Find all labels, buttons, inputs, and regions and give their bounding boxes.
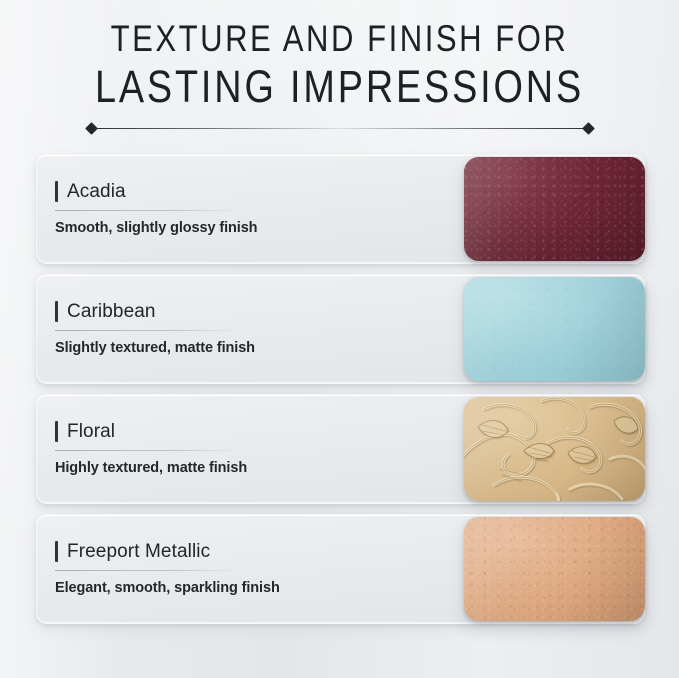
- color-swatch-floral[interactable]: [464, 397, 645, 501]
- swatch-description: Smooth, slightly glossy finish: [55, 220, 355, 236]
- swatch-name: Floral: [67, 421, 115, 443]
- divider-rule: [93, 128, 587, 129]
- accent-bar-icon: [55, 421, 58, 442]
- swatch-description: Slightly textured, matte finish: [55, 340, 355, 356]
- swatch-name-rule: [55, 570, 233, 571]
- list-item[interactable]: Acadia Smooth, slightly glossy finish: [0, 154, 679, 264]
- color-swatch-acadia[interactable]: [464, 157, 645, 261]
- title-divider: [87, 122, 593, 136]
- swatch-description: Elegant, smooth, sparkling finish: [55, 580, 355, 596]
- texture-finish-poster: TEXTURE AND FINISH FOR LASTING IMPRESSIO…: [0, 0, 679, 678]
- swatch-name: Acadia: [67, 181, 126, 203]
- gloss-sheen: [464, 517, 645, 621]
- page-title-line-1: TEXTURE AND FINISH FOR: [54, 20, 624, 58]
- leather-grain-texture: [464, 517, 645, 621]
- accent-bar-icon: [55, 301, 58, 322]
- poster-header: TEXTURE AND FINISH FOR LASTING IMPRESSIO…: [0, 0, 679, 136]
- swatch-card-body: Caribbean Slightly textured, matte finis…: [55, 301, 355, 356]
- accent-bar-icon: [55, 541, 58, 562]
- diamond-right-icon: [582, 122, 595, 135]
- swatch-card-body: Floral Highly textured, matte finish: [55, 421, 355, 476]
- swatch-description: Highly textured, matte finish: [55, 460, 355, 476]
- swatch-card-body: Acadia Smooth, slightly glossy finish: [55, 181, 355, 236]
- swatch-list: Acadia Smooth, slightly glossy finish Ca…: [0, 154, 679, 624]
- swatch-name-row: Freeport Metallic: [55, 541, 355, 563]
- swatch-card-body: Freeport Metallic Elegant, smooth, spark…: [55, 541, 355, 596]
- swatch-name: Caribbean: [67, 301, 156, 323]
- color-swatch-caribbean[interactable]: [464, 277, 645, 381]
- swatch-name: Freeport Metallic: [67, 541, 210, 563]
- swatch-name-rule: [55, 330, 233, 331]
- swatch-name-row: Caribbean: [55, 301, 355, 323]
- swatch-name-row: Floral: [55, 421, 355, 443]
- list-item[interactable]: Caribbean Slightly textured, matte finis…: [0, 274, 679, 384]
- list-item[interactable]: Freeport Metallic Elegant, smooth, spark…: [0, 514, 679, 624]
- gloss-sheen: [464, 277, 645, 381]
- swatch-name-rule: [55, 210, 233, 211]
- gloss-sheen: [464, 157, 645, 261]
- matte-grain-texture: [464, 277, 645, 381]
- list-item[interactable]: Floral Highly textured, matte finish: [0, 394, 679, 504]
- accent-bar-icon: [55, 181, 58, 202]
- swatch-name-row: Acadia: [55, 181, 355, 203]
- embossed-floral-pattern: [464, 397, 645, 501]
- swatch-name-rule: [55, 450, 233, 451]
- color-swatch-freeport-metallic[interactable]: [464, 517, 645, 621]
- page-title-line-2: LASTING IMPRESSIONS: [54, 64, 624, 110]
- leather-grain-texture: [464, 157, 645, 261]
